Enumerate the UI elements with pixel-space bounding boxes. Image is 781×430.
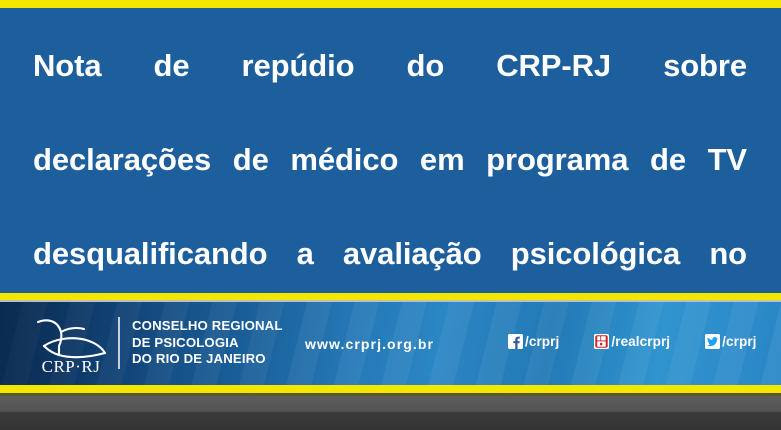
- twitter-handle[interactable]: /crprj: [722, 334, 756, 349]
- crp-rj-acronym: CRP·RJ: [42, 357, 101, 374]
- social-link-youtube[interactable]: /realcrprj: [594, 334, 670, 349]
- youtube-icon[interactable]: [594, 334, 609, 349]
- logo-divider: [118, 317, 120, 369]
- crp-rj-logo[interactable]: CRP·RJ CONSELHO REGIONAL DE PSICOLOGIA D…: [28, 311, 283, 375]
- headline-line-1: Nota de repúdio do CRP-RJ sobre: [33, 42, 747, 136]
- logo-name-line-2: DE PSICOLOGIA: [132, 335, 283, 352]
- logo-wordmark: CONSELHO REGIONAL DE PSICOLOGIA DO RIO D…: [132, 318, 283, 368]
- logo-name-line-3: DO RIO DE JANEIRO: [132, 351, 283, 368]
- crp-rj-announcement-banner: Nota de repúdio do CRP-RJ sobre declaraç…: [0, 0, 781, 430]
- headline-area: Nota de repúdio do CRP-RJ sobre declaraç…: [0, 8, 781, 293]
- social-links: /crprj /realcrprj: [508, 334, 757, 349]
- website-url[interactable]: www.crprj.org.br: [305, 336, 434, 352]
- facebook-icon[interactable]: [508, 334, 523, 349]
- social-link-twitter[interactable]: /crprj: [705, 334, 756, 349]
- bottom-gray-strip: [0, 396, 781, 430]
- bottom-yellow-rule: [0, 385, 781, 393]
- facebook-handle[interactable]: /crprj: [525, 334, 559, 349]
- logo-name-line-1: CONSELHO REGIONAL: [132, 318, 283, 335]
- headline-line-2: declarações de médico em programa de TV: [33, 136, 747, 230]
- top-yellow-rule: [0, 0, 781, 8]
- social-link-facebook[interactable]: /crprj: [508, 334, 559, 349]
- crp-rj-book-icon: CRP·RJ: [28, 312, 114, 374]
- twitter-icon[interactable]: [705, 334, 720, 349]
- middle-yellow-rule: [0, 293, 781, 300]
- youtube-handle[interactable]: /realcrprj: [611, 334, 670, 349]
